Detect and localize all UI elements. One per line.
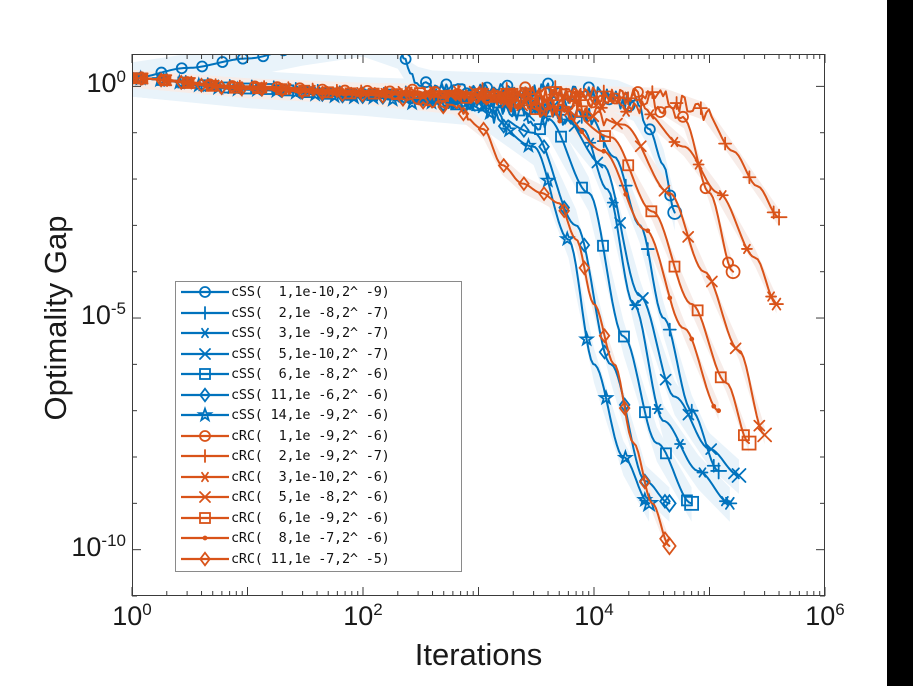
chart-figure: Optimality Gap 100 10-5 10-10 100 102 10… xyxy=(0,0,887,686)
legend-sample-square-icon xyxy=(179,364,231,384)
legend-item-6[interactable]: cSS( 14,1e -9,2^ -6) xyxy=(176,405,461,426)
legend-sample-diamond-icon xyxy=(179,549,231,569)
x-tick-3-exp: 6 xyxy=(835,600,844,619)
legend-label-12: cRC( 8,1e -7,2^ -6) xyxy=(231,530,390,546)
legend-item-1[interactable]: cSS( 2,1e -8,2^ -7) xyxy=(176,303,461,324)
legend-item-8[interactable]: cRC( 2,1e -9,2^ -7) xyxy=(176,446,461,467)
x-tick-0-exp: 0 xyxy=(142,600,151,619)
legend-sample-circle-icon xyxy=(179,282,231,302)
figure-root: Optimality Gap 100 10-5 10-10 100 102 10… xyxy=(0,0,913,686)
x-tick-3: 106 xyxy=(790,600,860,632)
legend-sample-cross-icon xyxy=(179,487,231,507)
y-tick-labels: 100 10-5 10-10 xyxy=(0,0,126,686)
legend-label-1: cSS( 2,1e -8,2^ -7) xyxy=(231,305,390,321)
legend-label-2: cSS( 3,1e -9,2^ -7) xyxy=(231,325,390,341)
legend-sample-dot-icon xyxy=(179,528,231,548)
legend-label-9: cRC( 3,1e-10,2^ -6) xyxy=(231,469,390,485)
legend-label-0: cSS( 1,1e-10,2^ -9) xyxy=(231,284,390,300)
y-tick-0-exp: 0 xyxy=(117,67,126,86)
legend-label-7: cRC( 1,1e -9,2^ -6) xyxy=(231,428,390,444)
legend-label-13: cRC( 11,1e -7,2^ -5) xyxy=(231,551,390,567)
x-tick-2-exp: 4 xyxy=(604,600,613,619)
legend-label-4: cSS( 6,1e -8,2^ -6) xyxy=(231,366,390,382)
legend-sample-circle-icon xyxy=(179,426,231,446)
legend-item-4[interactable]: cSS( 6,1e -8,2^ -6) xyxy=(176,364,461,385)
y-tick-2: 10-10 xyxy=(8,531,126,563)
legend-sample-plus-icon xyxy=(179,303,231,323)
y-tick-0: 100 xyxy=(8,67,126,99)
x-tick-2: 104 xyxy=(559,600,629,632)
legend-item-3[interactable]: cSS( 5,1e-10,2^ -7) xyxy=(176,344,461,365)
legend-label-10: cRC( 5,1e -8,2^ -6) xyxy=(231,489,390,505)
legend-label-3: cSS( 5,1e-10,2^ -7) xyxy=(231,346,390,362)
x-tick-1-exp: 2 xyxy=(373,600,382,619)
chart-legend[interactable]: cSS( 1,1e-10,2^ -9)cSS( 2,1e -8,2^ -7)cS… xyxy=(175,281,462,572)
legend-item-9[interactable]: cRC( 3,1e-10,2^ -6) xyxy=(176,467,461,488)
legend-sample-asterisk-icon xyxy=(179,323,231,343)
legend-item-7[interactable]: cRC( 1,1e -9,2^ -6) xyxy=(176,426,461,447)
curve-cRC-2-1e-9-2-7- xyxy=(132,78,779,217)
legend-item-10[interactable]: cRC( 5,1e -8,2^ -6) xyxy=(176,487,461,508)
legend-sample-diamond-icon xyxy=(179,385,231,405)
x-tick-1: 102 xyxy=(328,600,398,632)
x-axis-label: Iterations xyxy=(132,637,825,673)
right-black-band xyxy=(887,0,913,686)
curve-cRC-3-1e-10-2-6- xyxy=(132,78,777,304)
y-tick-1-exp: -5 xyxy=(111,299,126,318)
legend-item-12[interactable]: cRC( 8,1e -7,2^ -6) xyxy=(176,528,461,549)
legend-sample-asterisk-icon xyxy=(179,467,231,487)
legend-item-13[interactable]: cRC( 11,1e -7,2^ -5) xyxy=(176,549,461,570)
legend-item-5[interactable]: cSS( 11,1e -6,2^ -6) xyxy=(176,385,461,406)
curve-cRC-1-1e-9-2-6- xyxy=(132,78,733,272)
legend-label-11: cRC( 6,1e -9,2^ -6) xyxy=(231,510,390,526)
legend-sample-cross-icon xyxy=(179,344,231,364)
legend-item-2[interactable]: cSS( 3,1e -9,2^ -7) xyxy=(176,323,461,344)
legend-label-5: cSS( 11,1e -6,2^ -6) xyxy=(231,387,390,403)
y-tick-2-exp: -10 xyxy=(101,531,126,550)
y-tick-1: 10-5 xyxy=(8,299,126,331)
legend-item-0[interactable]: cSS( 1,1e-10,2^ -9) xyxy=(176,282,461,303)
legend-label-6: cSS( 14,1e -9,2^ -6) xyxy=(231,407,390,423)
legend-sample-plus-icon xyxy=(179,446,231,466)
legend-sample-pentagram-icon xyxy=(179,405,231,425)
legend-label-8: cRC( 2,1e -9,2^ -7) xyxy=(231,448,390,464)
legend-sample-square-icon xyxy=(179,508,231,528)
x-tick-0: 100 xyxy=(97,600,167,632)
curve-cSS-1-1e-10-2-9- xyxy=(132,38,675,212)
legend-item-11[interactable]: cRC( 6,1e -9,2^ -6) xyxy=(176,508,461,529)
